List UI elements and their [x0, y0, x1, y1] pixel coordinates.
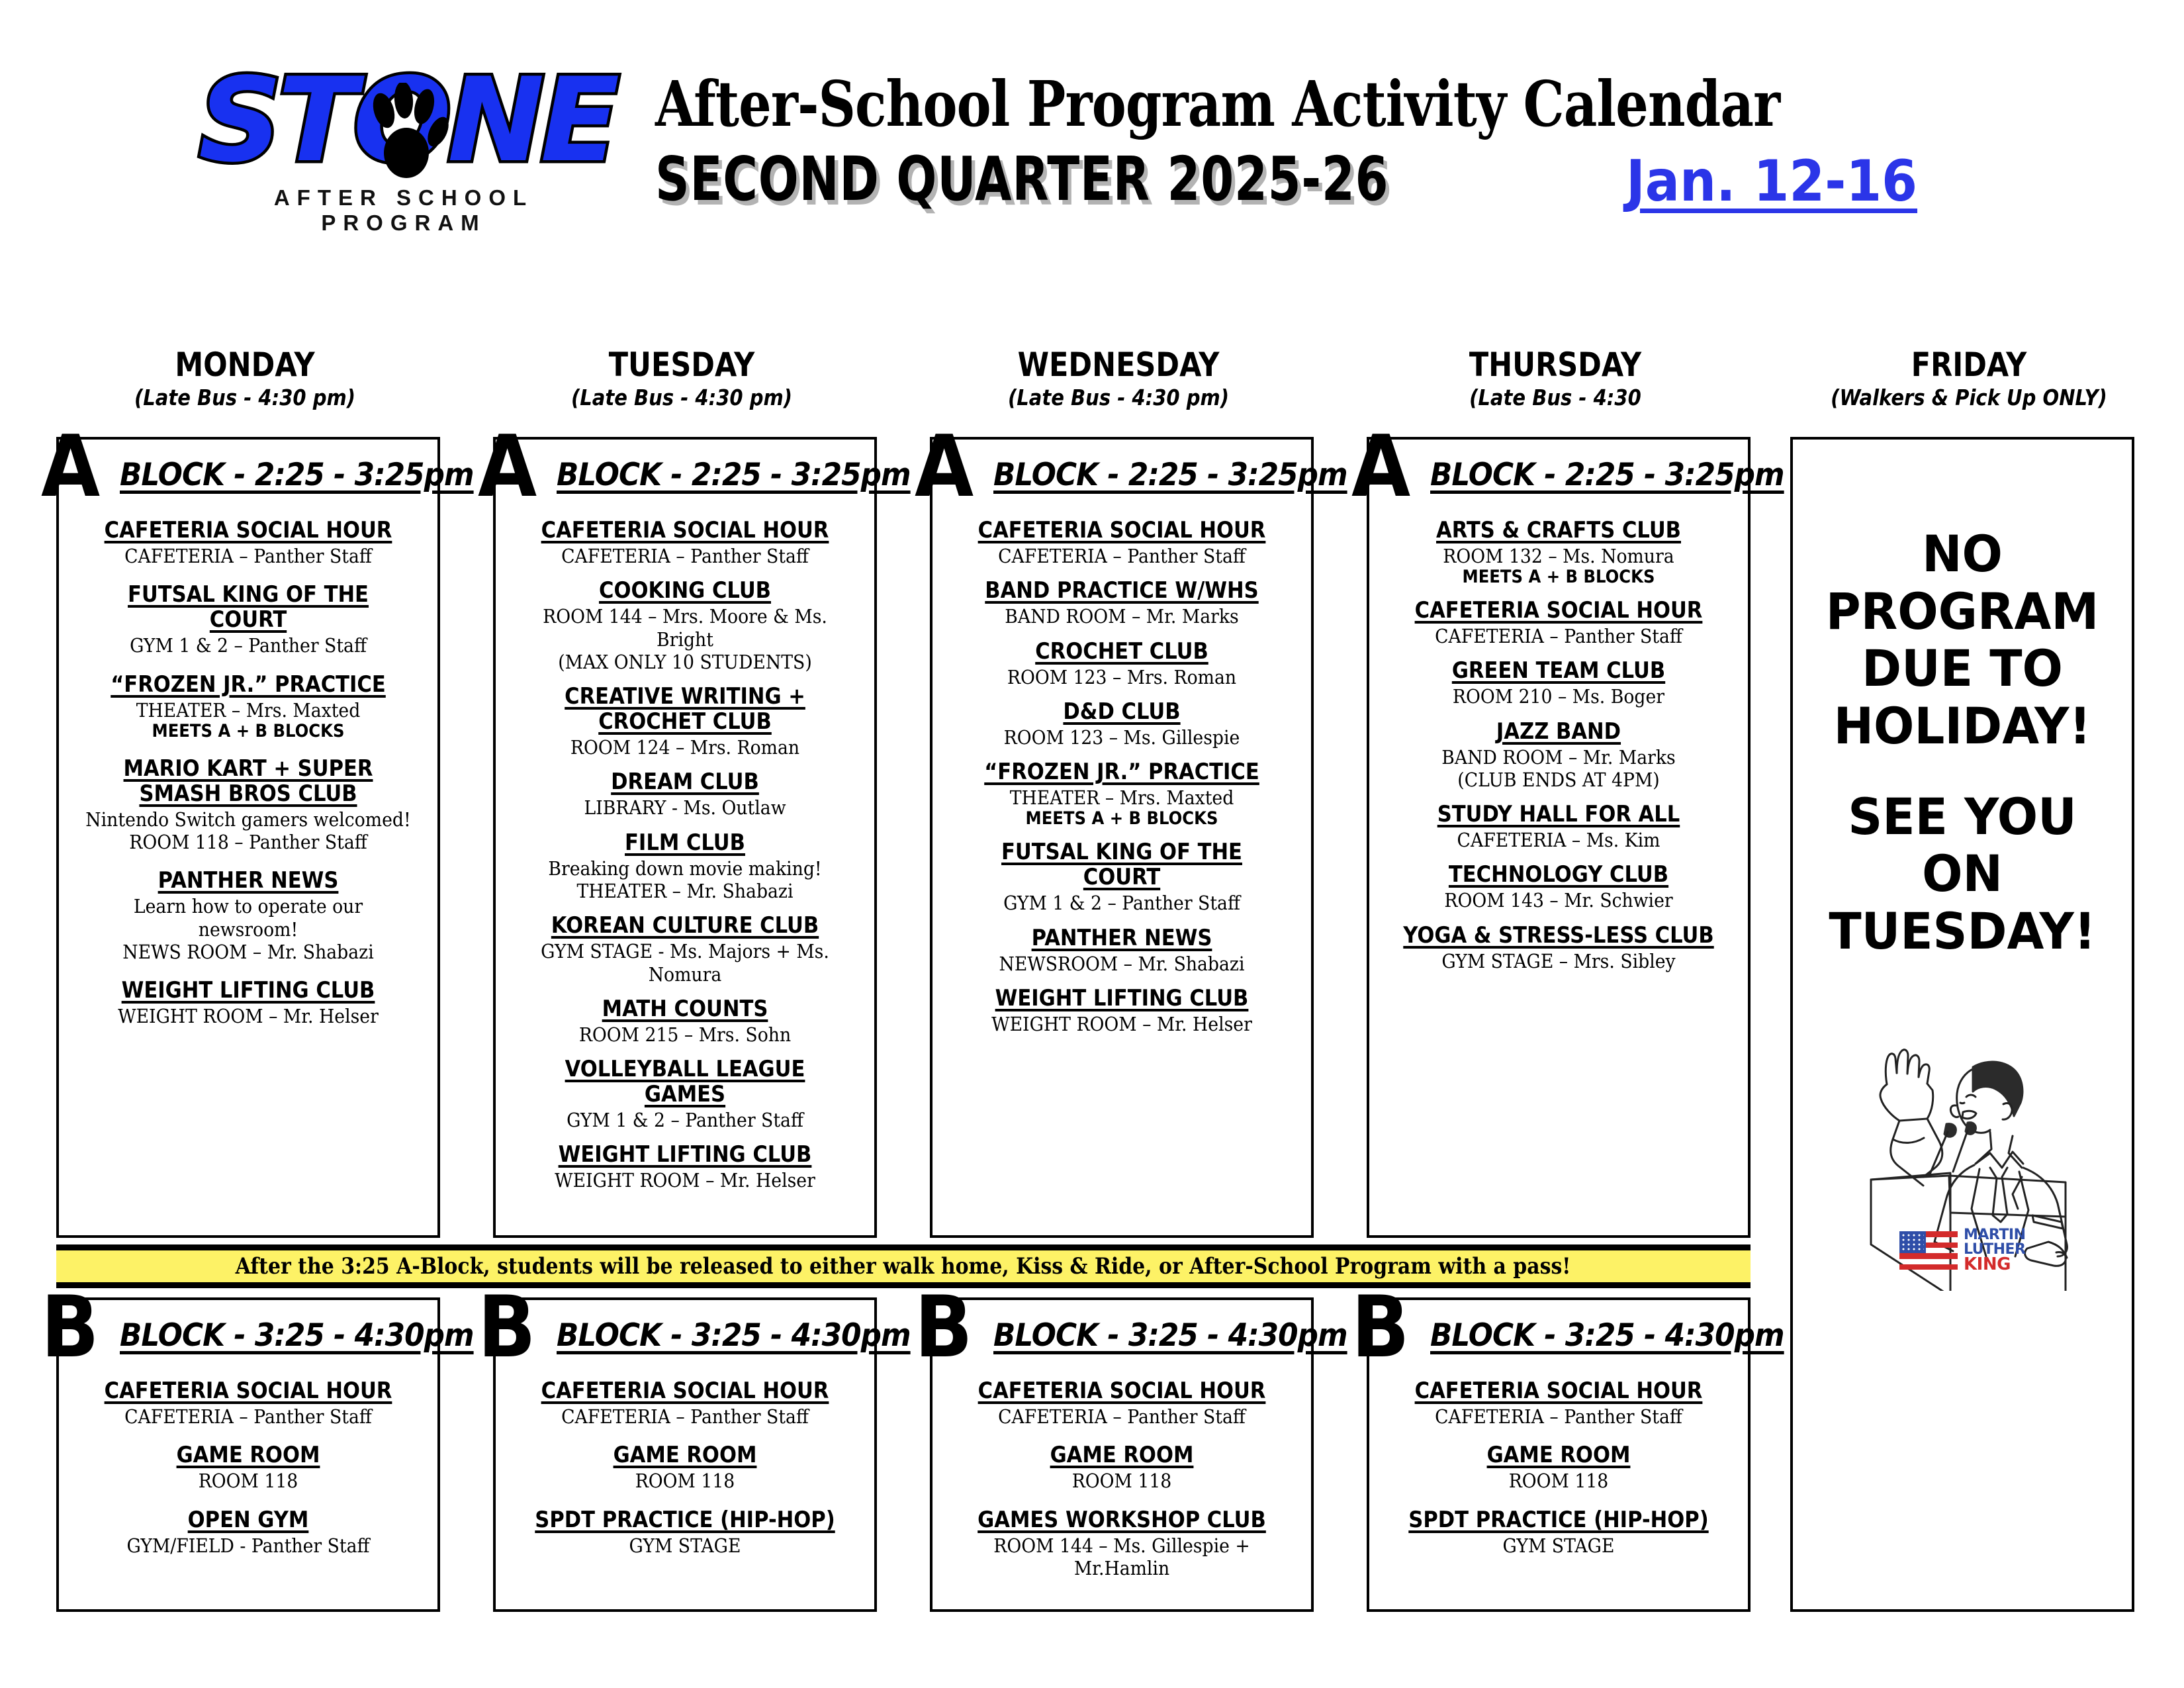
activity-detail: WEIGHT ROOM – Mr. Helser: [520, 1169, 850, 1192]
a-block-card-thursday: A BLOCK - 2:25 - 3:25pm ARTS & CRAFTS CL…: [1367, 437, 1751, 1238]
activity-item[interactable]: GAME ROOMROOM 118: [1379, 1442, 1739, 1492]
activity-item[interactable]: DREAM CLUBLIBRARY - Ms. Outlaw: [505, 769, 865, 819]
page-title: After-School Program Activity Calendar: [655, 73, 1762, 136]
mlk-logo: MARTIN LUTHER KING: [1899, 1228, 2026, 1274]
activity-item[interactable]: WEIGHT LIFTING CLUBWEIGHT ROOM – Mr. Hel…: [505, 1142, 865, 1192]
holiday-line: NO: [1801, 526, 2123, 583]
activity-meets-note: MEETS A + B BLOCKS: [960, 809, 1284, 829]
holiday-message: NO PROGRAM DUE TO HOLIDAY! SEE YOU ON TU…: [1801, 440, 2123, 960]
activity-name: WEIGHT LIFTING CLUB: [960, 986, 1284, 1011]
activity-name: PANTHER NEWS: [86, 868, 410, 893]
activity-name: CROCHET CLUB: [960, 639, 1284, 664]
holiday-line: DUE TO: [1801, 640, 2123, 698]
day-name: FRIDAY: [1807, 348, 2131, 383]
mlk-wordmark: MARTIN LUTHER KING: [1964, 1228, 2026, 1274]
activity-item[interactable]: CROCHET CLUBROOM 123 – Mrs. Roman: [942, 639, 1302, 688]
week-range: Jan. 12-16: [1626, 153, 1917, 210]
block-tag-a: A: [1351, 425, 1410, 510]
day-name: TUESDAY: [505, 348, 858, 383]
activity-detail: ROOM 118: [1393, 1470, 1724, 1492]
block-tag-b: B: [478, 1286, 536, 1370]
activity-item[interactable]: YOGA & STRESS-LESS CLUBGYM STAGE – Mrs. …: [1379, 923, 1739, 972]
activity-name: VOLLEYBALL LEAGUE GAMES: [523, 1056, 847, 1107]
holiday-line: ON: [1801, 845, 2123, 903]
stone-logo: STONE AFTER SCHOOL PROGRAM: [199, 63, 609, 236]
activity-name: GAME ROOM: [86, 1442, 410, 1468]
activity-name: GAME ROOM: [523, 1442, 847, 1468]
activity-detail: ROOM 144 – Mrs. Moore & Ms. Bright(MAX O…: [520, 605, 850, 673]
block-label-a: BLOCK - 2:25 - 3:25pm: [557, 457, 911, 493]
activity-detail: CAFETERIA – Panther Staff: [520, 545, 850, 567]
activity-detail: Nintendo Switch gamers welcomed!ROOM 118…: [83, 808, 414, 853]
activity-detail: GYM/FIELD - Panther Staff: [83, 1534, 414, 1557]
activity-item[interactable]: WEIGHT LIFTING CLUBWEIGHT ROOM – Mr. Hel…: [68, 978, 428, 1027]
activity-name: MATH COUNTS: [523, 996, 847, 1021]
block-tag-b: B: [1351, 1286, 1410, 1370]
activity-name: CAFETERIA SOCIAL HOUR: [960, 518, 1284, 543]
activity-detail: ROOM 123 – Mrs. Roman: [956, 666, 1287, 688]
activity-detail: THEATER – Mrs. Maxted: [956, 786, 1287, 809]
activity-detail: ROOM 132 – Ms. Nomura: [1393, 545, 1724, 567]
day-header-tuesday: TUESDAY (Late Bus - 4:30 pm): [477, 348, 887, 409]
day-header-friday: FRIDAY (Walkers & Pick Up ONLY): [1780, 348, 2158, 409]
a-block-card-monday: A BLOCK - 2:25 - 3:25pm CAFETERIA SOCIAL…: [56, 437, 440, 1238]
activity-meets-note: MEETS A + B BLOCKS: [1396, 567, 1721, 587]
activity-name: DREAM CLUB: [523, 769, 847, 794]
activity-detail: CAFETERIA – Panther Staff: [83, 1405, 414, 1428]
day-note: (Late Bus - 4:30 pm): [64, 387, 426, 410]
activity-name: TECHNOLOGY CLUB: [1396, 862, 1721, 887]
activity-list: CAFETERIA SOCIAL HOURCAFETERIA – Panther…: [496, 440, 874, 1215]
activity-item[interactable]: CAFETERIA SOCIAL HOURCAFETERIA – Panther…: [942, 1378, 1302, 1428]
activity-name: GAMES WORKSHOP CLUB: [960, 1507, 1284, 1532]
activity-detail: CAFETERIA – Panther Staff: [1393, 625, 1724, 647]
holiday-line: HOLIDAY!: [1801, 698, 2123, 755]
activity-item[interactable]: CAFETERIA SOCIAL HOURCAFETERIA – Panther…: [1379, 1378, 1739, 1428]
activity-name: KOREAN CULTURE CLUB: [523, 913, 847, 938]
activity-name: CAFETERIA SOCIAL HOUR: [523, 518, 847, 543]
activity-item[interactable]: JAZZ BANDBAND ROOM – Mr. Marks(CLUB ENDS…: [1379, 719, 1739, 792]
activity-item[interactable]: GAME ROOMROOM 118: [942, 1442, 1302, 1492]
block-tag-b: B: [41, 1286, 99, 1370]
activity-name: YOGA & STRESS-LESS CLUB: [1396, 923, 1721, 948]
activity-name: FUTSAL KING OF THE COURT: [86, 582, 410, 632]
day-name: WEDNESDAY: [942, 348, 1295, 383]
activity-item[interactable]: CAFETERIA SOCIAL HOURCAFETERIA – Panther…: [505, 518, 865, 567]
block-tag-a: A: [915, 425, 974, 510]
activity-name: SPDT PRACTICE (HIP-HOP): [1396, 1507, 1721, 1532]
block-tag-a: A: [478, 425, 537, 510]
block-label-b: BLOCK - 3:25 - 4:30pm: [557, 1317, 911, 1354]
block-label-b: BLOCK - 3:25 - 4:30pm: [1430, 1317, 1784, 1354]
activity-name: WEIGHT LIFTING CLUB: [86, 978, 410, 1003]
activity-detail: ROOM 118: [956, 1470, 1287, 1492]
activity-item[interactable]: CAFETERIA SOCIAL HOURCAFETERIA – Panther…: [505, 1378, 865, 1428]
activity-detail: GYM 1 & 2 – Panther Staff: [520, 1109, 850, 1131]
block-label-a: BLOCK - 2:25 - 3:25pm: [120, 457, 474, 493]
activity-item[interactable]: CAFETERIA SOCIAL HOURCAFETERIA – Panther…: [1379, 598, 1739, 647]
mlk-line: KING: [1964, 1256, 2026, 1273]
holiday-line: PROGRAM: [1801, 583, 2123, 641]
activity-item[interactable]: “FROZEN JR.” PRACTICETHEATER – Mrs. Maxt…: [942, 759, 1302, 829]
day-note: (Late Bus - 4:30 pm): [501, 387, 862, 410]
activity-name: PANTHER NEWS: [960, 925, 1284, 951]
activity-item[interactable]: “FROZEN JR.” PRACTICETHEATER – Mrs. Maxt…: [68, 672, 428, 741]
activity-item[interactable]: GAME ROOMROOM 118: [505, 1442, 865, 1492]
activity-name: CAFETERIA SOCIAL HOUR: [86, 518, 410, 543]
activity-name: GREEN TEAM CLUB: [1396, 658, 1721, 683]
activity-name: OPEN GYM: [86, 1507, 410, 1532]
activity-name: “FROZEN JR.” PRACTICE: [86, 672, 410, 697]
release-notice-text: After the 3:25 A-Block, students will be…: [236, 1253, 1571, 1280]
activity-detail: ROOM 123 – Ms. Gillespie: [956, 726, 1287, 749]
activity-detail: WEIGHT ROOM – Mr. Helser: [83, 1005, 414, 1027]
activity-detail: GYM STAGE - Ms. Majors + Ms. Nomura: [520, 940, 850, 985]
logo-subtitle: AFTER SCHOOL PROGRAM: [199, 185, 609, 236]
activity-detail: LIBRARY - Ms. Outlaw: [520, 796, 850, 819]
activity-item[interactable]: SPDT PRACTICE (HIP-HOP)GYM STAGE: [1379, 1507, 1739, 1557]
activity-list: CAFETERIA SOCIAL HOURCAFETERIA – Panther…: [59, 440, 437, 1054]
activity-detail: NEWSROOM – Mr. Shabazi: [956, 953, 1287, 975]
activity-detail: BAND ROOM – Mr. Marks(CLUB ENDS AT 4PM): [1393, 746, 1724, 791]
day-name: THURSDAY: [1379, 348, 1731, 383]
activity-name: WEIGHT LIFTING CLUB: [523, 1142, 847, 1167]
activity-detail: GYM STAGE: [520, 1534, 850, 1557]
activity-detail: ROOM 210 – Ms. Boger: [1393, 685, 1724, 708]
logo-wordmark: STONE: [199, 63, 615, 179]
b-block-card-wednesday: B BLOCK - 3:25 - 4:30pm CAFETERIA SOCIAL…: [930, 1297, 1314, 1612]
activity-item[interactable]: D&D CLUBROOM 123 – Ms. Gillespie: [942, 699, 1302, 749]
day-note: (Late Bus - 4:30 pm): [938, 387, 1299, 410]
activity-name: FUTSAL KING OF THE COURT: [960, 839, 1284, 890]
block-label-b: BLOCK - 3:25 - 4:30pm: [993, 1317, 1347, 1354]
holiday-line: SEE YOU: [1801, 788, 2123, 846]
activity-item[interactable]: CREATIVE WRITING + CROCHET CLUBROOM 124 …: [505, 684, 865, 759]
activity-detail: CAFETERIA – Panther Staff: [956, 1405, 1287, 1428]
activity-item[interactable]: BAND PRACTICE W/WHSBAND ROOM – Mr. Marks: [942, 578, 1302, 628]
b-block-card-monday: B BLOCK - 3:25 - 4:30pm CAFETERIA SOCIAL…: [56, 1297, 440, 1612]
activity-item[interactable]: CAFETERIA SOCIAL HOURCAFETERIA – Panther…: [68, 1378, 428, 1428]
activity-detail: GYM 1 & 2 – Panther Staff: [956, 892, 1287, 914]
activity-item[interactable]: GREEN TEAM CLUBROOM 210 – Ms. Boger: [1379, 658, 1739, 708]
activity-item[interactable]: CAFETERIA SOCIAL HOURCAFETERIA – Panther…: [942, 518, 1302, 567]
block-tag-b: B: [915, 1286, 973, 1370]
activity-name: CAFETERIA SOCIAL HOUR: [523, 1378, 847, 1403]
activity-name: MARIO KART + SUPER SMASH BROS CLUB: [86, 756, 410, 806]
activity-item[interactable]: SPDT PRACTICE (HIP-HOP)GYM STAGE: [505, 1507, 865, 1557]
activity-name: GAME ROOM: [960, 1442, 1284, 1468]
title-block: After-School Program Activity Calendar S…: [655, 73, 2005, 210]
b-block-card-tuesday: B BLOCK - 3:25 - 4:30pm CAFETERIA SOCIAL…: [493, 1297, 877, 1612]
activity-list: CAFETERIA SOCIAL HOURCAFETERIA – Panther…: [933, 440, 1311, 1058]
activity-detail: GYM 1 & 2 – Panther Staff: [83, 634, 414, 657]
activity-name: CAFETERIA SOCIAL HOUR: [1396, 1378, 1721, 1403]
activity-detail: ROOM 143 – Mr. Schwier: [1393, 889, 1724, 912]
activity-item[interactable]: VOLLEYBALL LEAGUE GAMESGYM 1 & 2 – Panth…: [505, 1056, 865, 1131]
activity-item[interactable]: ARTS & CRAFTS CLUBROOM 132 – Ms. NomuraM…: [1379, 518, 1739, 587]
activity-item[interactable]: TECHNOLOGY CLUBROOM 143 – Mr. Schwier: [1379, 862, 1739, 912]
activity-name: GAME ROOM: [1396, 1442, 1721, 1468]
activity-name: D&D CLUB: [960, 699, 1284, 724]
activity-name: SPDT PRACTICE (HIP-HOP): [523, 1507, 847, 1532]
activity-detail: CAFETERIA – Panther Staff: [1393, 1405, 1724, 1428]
activity-item[interactable]: GAME ROOMROOM 118: [68, 1442, 428, 1492]
activity-detail: Breaking down movie making!THEATER – Mr.…: [520, 857, 850, 902]
activity-detail: ROOM 215 – Mrs. Sohn: [520, 1023, 850, 1046]
activity-item[interactable]: OPEN GYMGYM/FIELD - Panther Staff: [68, 1507, 428, 1557]
activity-detail: CAFETERIA – Panther Staff: [956, 545, 1287, 567]
quarter-subtitle: SECOND QUARTER 2025-26: [655, 149, 1388, 210]
day-header-thursday: THURSDAY (Late Bus - 4:30: [1350, 348, 1760, 409]
activity-name: CREATIVE WRITING + CROCHET CLUB: [523, 684, 847, 734]
activity-detail: ROOM 144 – Ms. Gillespie + Mr.Hamlin: [956, 1534, 1287, 1579]
activity-detail: CAFETERIA – Panther Staff: [520, 1405, 850, 1428]
activity-item[interactable]: CAFETERIA SOCIAL HOURCAFETERIA – Panther…: [68, 518, 428, 567]
activity-name: CAFETERIA SOCIAL HOUR: [1396, 598, 1721, 623]
activity-item[interactable]: PANTHER NEWSLearn how to operate our new…: [68, 868, 428, 963]
activity-item[interactable]: PANTHER NEWSNEWSROOM – Mr. Shabazi: [942, 925, 1302, 975]
activity-item[interactable]: GAMES WORKSHOP CLUBROOM 144 – Ms. Gilles…: [942, 1507, 1302, 1580]
day-name: MONDAY: [68, 348, 421, 383]
activity-list: ARTS & CRAFTS CLUBROOM 132 – Ms. NomuraM…: [1369, 440, 1748, 995]
block-label-b: BLOCK - 3:25 - 4:30pm: [120, 1317, 474, 1354]
activity-detail: THEATER – Mrs. Maxted: [83, 699, 414, 722]
mlk-line: MARTIN: [1964, 1228, 2026, 1243]
b-block-card-thursday: B BLOCK - 3:25 - 4:30pm CAFETERIA SOCIAL…: [1367, 1297, 1751, 1612]
activity-name: FILM CLUB: [523, 830, 847, 855]
activity-detail: ROOM 118: [83, 1470, 414, 1492]
activity-detail: WEIGHT ROOM – Mr. Helser: [956, 1013, 1287, 1035]
a-block-card-tuesday: A BLOCK - 2:25 - 3:25pm CAFETERIA SOCIAL…: [493, 437, 877, 1238]
activity-name: COOKING CLUB: [523, 578, 847, 603]
activity-item[interactable]: COOKING CLUBROOM 144 – Mrs. Moore & Ms. …: [505, 578, 865, 673]
activity-name: CAFETERIA SOCIAL HOUR: [960, 1378, 1284, 1403]
activity-detail: CAFETERIA – Panther Staff: [83, 545, 414, 567]
activity-item[interactable]: MARIO KART + SUPER SMASH BROS CLUBNinten…: [68, 756, 428, 854]
activity-item[interactable]: WEIGHT LIFTING CLUBWEIGHT ROOM – Mr. Hel…: [942, 986, 1302, 1035]
activity-meets-note: MEETS A + B BLOCKS: [86, 722, 410, 741]
activity-name: BAND PRACTICE W/WHS: [960, 578, 1284, 603]
day-note: (Walkers & Pick Up ONLY): [1803, 387, 2135, 410]
day-header-wednesday: WEDNESDAY (Late Bus - 4:30 pm): [913, 348, 1324, 409]
activity-name: CAFETERIA SOCIAL HOUR: [86, 1378, 410, 1403]
activity-detail: Learn how to operate our newsroom!NEWS R…: [83, 895, 414, 963]
activity-item[interactable]: FILM CLUBBreaking down movie making!THEA…: [505, 830, 865, 903]
block-label-a: BLOCK - 2:25 - 3:25pm: [993, 457, 1347, 493]
day-header-monday: MONDAY (Late Bus - 4:30 pm): [40, 348, 450, 409]
activity-item[interactable]: STUDY HALL FOR ALLCAFETERIA – Ms. Kim: [1379, 802, 1739, 851]
activity-item[interactable]: MATH COUNTSROOM 215 – Mrs. Sohn: [505, 996, 865, 1046]
a-block-card-wednesday: A BLOCK - 2:25 - 3:25pm CAFETERIA SOCIAL…: [930, 437, 1314, 1238]
activity-name: STUDY HALL FOR ALL: [1396, 802, 1721, 827]
holiday-line: TUESDAY!: [1801, 903, 2123, 961]
activity-detail: ROOM 118: [520, 1470, 850, 1492]
day-note: (Late Bus - 4:30: [1375, 387, 1736, 410]
activity-item[interactable]: FUTSAL KING OF THE COURTGYM 1 & 2 – Pant…: [68, 582, 428, 657]
activity-item[interactable]: KOREAN CULTURE CLUBGYM STAGE - Ms. Major…: [505, 913, 865, 986]
activity-detail: ROOM 124 – Mrs. Roman: [520, 736, 850, 759]
usa-flag-icon: [1899, 1231, 1958, 1270]
activity-name: JAZZ BAND: [1396, 719, 1721, 744]
activity-name: ARTS & CRAFTS CLUB: [1396, 518, 1721, 543]
activity-name: “FROZEN JR.” PRACTICE: [960, 759, 1284, 784]
activity-detail: CAFETERIA – Ms. Kim: [1393, 829, 1724, 851]
activity-detail: BAND ROOM – Mr. Marks: [956, 605, 1287, 628]
activity-item[interactable]: FUTSAL KING OF THE COURTGYM 1 & 2 – Pant…: [942, 839, 1302, 914]
block-label-a: BLOCK - 2:25 - 3:25pm: [1430, 457, 1784, 493]
activity-detail: GYM STAGE: [1393, 1534, 1724, 1557]
release-notice-banner: After the 3:25 A-Block, students will be…: [56, 1244, 1751, 1288]
page-header: STONE AFTER SCHOOL PROGRAM After-School …: [0, 0, 2184, 311]
activity-detail: GYM STAGE – Mrs. Sibley: [1393, 950, 1724, 972]
block-tag-a: A: [41, 425, 100, 510]
